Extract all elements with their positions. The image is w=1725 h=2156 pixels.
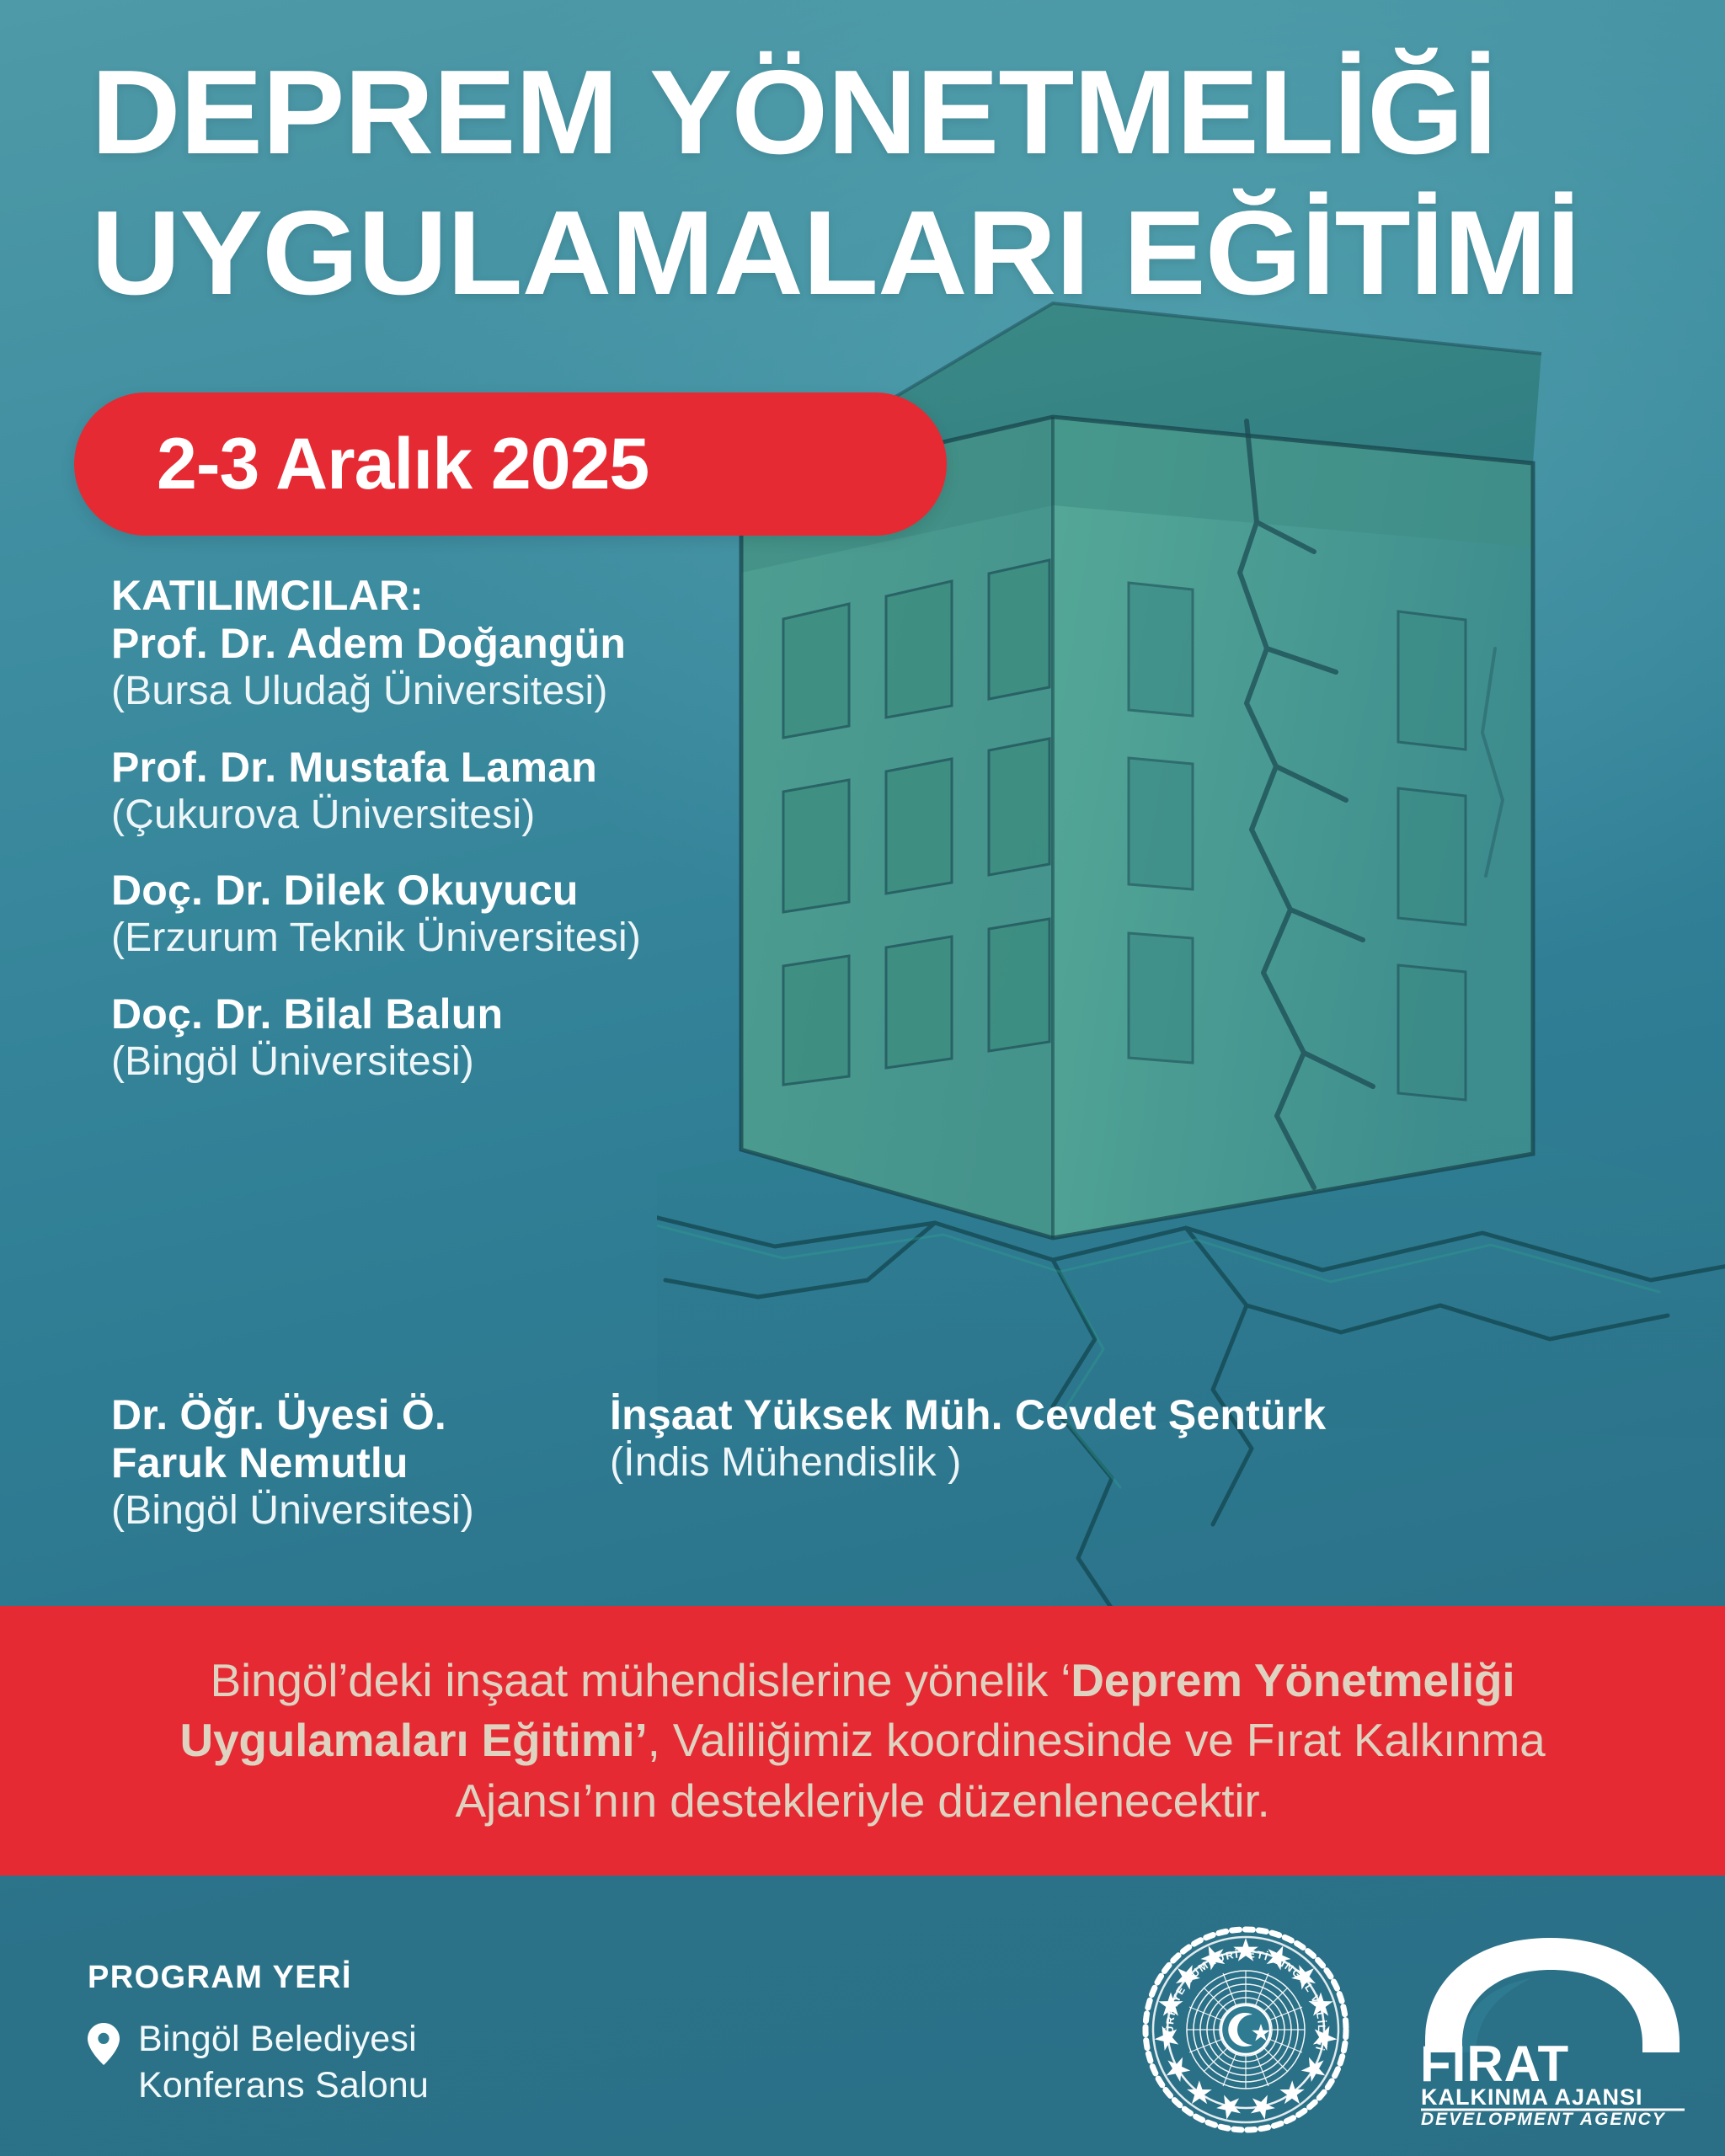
- banner-text-part1: Bingöl’deki inşaat mühendislerine yöneli…: [211, 1654, 1071, 1706]
- participants-heading: KATILIMCILAR:: [111, 571, 987, 620]
- venue-line-1: Bingöl Belediyesi: [138, 2016, 429, 2063]
- participants-bottom-row: Dr. Öğr. Üyesi Ö. Faruk Nemutlu (Bingöl …: [111, 1391, 1627, 1534]
- participant-org: (Bingöl Üniversitesi): [111, 1487, 558, 1534]
- poster-root: DEPREM YÖNETMELİĞİ UYGULAMALARI EĞİTİMİ …: [0, 0, 1725, 2156]
- map-pin-icon: [88, 2023, 120, 2065]
- page-title: DEPREM YÖNETMELİĞİ UYGULAMALARI EĞİTİMİ: [91, 52, 1691, 315]
- firat-kalkinma-ajansi-logo-icon: FIRAT KALKINMA AJANSI DEVELOPMENT AGENCY: [1413, 1933, 1691, 2127]
- firat-logo-line2: KALKINMA AJANSI: [1421, 2084, 1643, 2110]
- participant-item: Prof. Dr. Adem Doğangün (Bursa Uludağ Ün…: [111, 620, 987, 715]
- participant-org: (Çukurova Üniversitesi): [111, 792, 987, 839]
- title-line-1: DEPREM YÖNETMELİĞİ: [91, 52, 1725, 174]
- participant-org: (Bursa Uludağ Üniversitesi): [111, 668, 987, 715]
- participant-org: (Bingöl Üniversitesi): [111, 1038, 987, 1086]
- program-venue-heading: PROGRAM YERİ: [88, 1960, 429, 1996]
- participant-name: Prof. Dr. Adem Doğangün: [111, 620, 987, 668]
- participant-name: İnşaat Yüksek Müh. Cevdet Şentürk: [610, 1391, 1368, 1439]
- venue-address: Bingöl Belediyesi Konferans Salonu: [138, 2016, 429, 2109]
- participant-org: (Erzurum Teknik Üniversitesi): [111, 915, 987, 962]
- banner-paragraph: Bingöl’deki inşaat mühendislerine yöneli…: [92, 1651, 1633, 1832]
- title-line-2: UYGULAMALARI EĞİTİMİ: [91, 193, 1725, 315]
- participant-item: Dr. Öğr. Üyesi Ö. Faruk Nemutlu (Bingöl …: [111, 1391, 558, 1534]
- bingol-valiligi-seal-icon: TÜRKİYE CUMHURİYETİ BİNGÖL VALİLİĞİ: [1140, 1924, 1351, 2135]
- logo-strip: TÜRKİYE CUMHURİYETİ BİNGÖL VALİLİĞİ: [1140, 1924, 1691, 2135]
- firat-logo-line3: DEVELOPMENT AGENCY: [1421, 2110, 1666, 2127]
- participant-name: Doç. Dr. Dilek Okuyucu: [111, 867, 987, 915]
- program-venue-block: PROGRAM YERİ Bingöl Belediyesi Konferans…: [88, 1960, 429, 2109]
- firat-logo-line1: FIRAT: [1420, 2036, 1569, 2092]
- participants-list: KATILIMCILAR: Prof. Dr. Adem Doğangün (B…: [111, 571, 987, 1086]
- participant-item: İnşaat Yüksek Müh. Cevdet Şentürk (İndis…: [610, 1391, 1368, 1534]
- participant-name: Dr. Öğr. Üyesi Ö. Faruk Nemutlu: [111, 1391, 558, 1487]
- footer: PROGRAM YERİ Bingöl Belediyesi Konferans…: [0, 1876, 1725, 2156]
- date-badge: 2-3 Aralık 2025: [74, 392, 947, 536]
- participant-item: Doç. Dr. Bilal Balun (Bingöl Üniversites…: [111, 990, 987, 1086]
- participant-org: (İndis Mühendislik ): [610, 1439, 1368, 1486]
- participant-item: Doç. Dr. Dilek Okuyucu (Erzurum Teknik Ü…: [111, 867, 987, 962]
- participant-name: Prof. Dr. Mustafa Laman: [111, 744, 987, 792]
- red-description-banner: Bingöl’deki inşaat mühendislerine yöneli…: [0, 1606, 1725, 1876]
- participant-item: Prof. Dr. Mustafa Laman (Çukurova Üniver…: [111, 744, 987, 839]
- participant-name: Doç. Dr. Bilal Balun: [111, 990, 987, 1038]
- venue-line-2: Konferans Salonu: [138, 2063, 429, 2109]
- date-badge-text: 2-3 Aralık 2025: [157, 428, 649, 500]
